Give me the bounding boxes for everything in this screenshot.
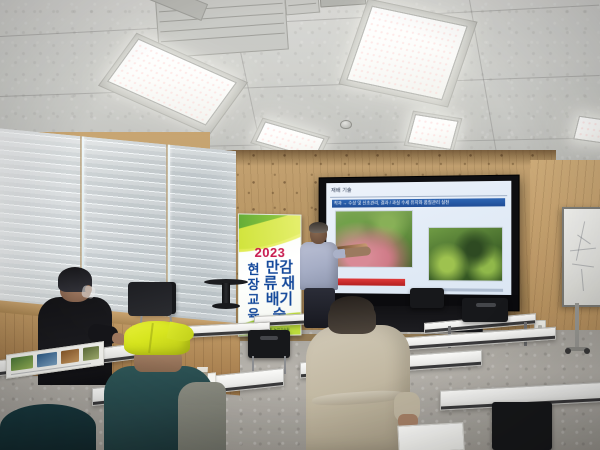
slide-highlight-bar: 착과 → 수상 및 신초관리, 결과 / 과실 수세 유지와 품질관리 실천 (332, 198, 505, 207)
pedestal-table-base (212, 303, 240, 309)
smoke-detector-icon (340, 120, 352, 129)
presenter-shirt (300, 242, 338, 290)
banner-line-left: 현장교육 (245, 262, 262, 322)
chair[interactable] (462, 298, 508, 322)
whiteboard-stand (575, 303, 579, 349)
slide-red-callout (335, 278, 405, 286)
slide-photo-right (428, 227, 503, 282)
note-paper[interactable] (397, 422, 464, 450)
slide-content: 재배 기술 착과 → 수상 및 신초관리, 결과 / 과실 수세 유지와 품질관… (326, 181, 511, 295)
bag (128, 282, 172, 316)
banner-year: 2023 (239, 245, 301, 260)
chair[interactable] (248, 330, 290, 358)
wall-top-shadow (186, 150, 556, 166)
attendee-shoulder (178, 382, 226, 450)
attendee-torso (306, 325, 410, 450)
attendee-partial-head (0, 404, 96, 450)
caster-wheel (565, 348, 571, 354)
classroom-photo: 재배 기술 착과 → 수상 및 신초관리, 결과 / 과실 수세 유지와 품질관… (0, 0, 600, 450)
presenter-hair (309, 222, 328, 233)
chair-leg (284, 356, 286, 374)
chair[interactable] (492, 402, 552, 450)
slide-photo-left (335, 210, 413, 268)
chair[interactable] (410, 288, 444, 308)
whiteboard[interactable] (562, 207, 600, 307)
attendee-hair (328, 300, 376, 334)
caster-wheel (584, 348, 590, 354)
slide-title: 재배 기술 (331, 185, 506, 196)
